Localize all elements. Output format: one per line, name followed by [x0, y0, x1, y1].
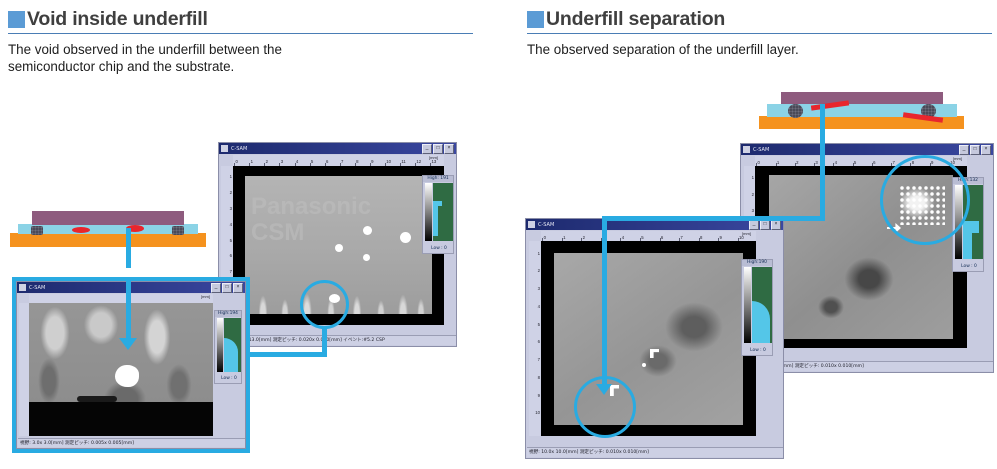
ruler-tick: 1 [538, 251, 540, 256]
ruler-tick: 5 [311, 159, 313, 164]
window-titlebar[interactable]: C-SAM _ □ × [741, 144, 993, 155]
close-button[interactable]: × [771, 220, 781, 230]
left-heading-title: Void inside underfill [27, 9, 208, 30]
ruler-tick: 9 [538, 393, 540, 398]
leader-line-down [820, 143, 825, 221]
status-bar: 視野: 3.0x 3.0[mm] 測定ピッチ: 0.005x 0.005[mm] [18, 438, 245, 447]
window-title: C-SAM [538, 222, 749, 228]
histogram-plot [752, 267, 772, 343]
histogram-panel[interactable]: High:190 Low : 0 [741, 259, 773, 356]
zoom-arrow-head [119, 338, 137, 350]
ruler-tick: 3 [752, 208, 754, 213]
histogram-panel[interactable]: High: 191 Low : 0 [422, 175, 454, 254]
ruler-tick: 3 [815, 160, 817, 165]
maximize-button[interactable]: □ [433, 144, 443, 154]
app-icon [743, 146, 750, 153]
schematic-leader-line [126, 228, 131, 268]
close-button[interactable]: × [233, 283, 243, 293]
status-bar: 視野: 10.0x 10.0[mm] 測定ピッチ: 0.010x 0.010[m… [527, 447, 783, 457]
ruler-tick: 1 [752, 175, 754, 180]
window-controls[interactable]: _ □ × [211, 283, 243, 293]
solder-bump [31, 226, 43, 235]
histogram-high-label: High: 191 [423, 176, 453, 182]
csam-zoom-window[interactable]: C-SAM _ □ × [mm] High:194 Low : 0 視野: [16, 281, 246, 449]
close-button[interactable]: × [981, 145, 991, 155]
ruler-tick: 0 [758, 160, 760, 165]
ruler-tick: 1 [251, 159, 253, 164]
chip-layer [781, 92, 943, 104]
ruler-tick: 2 [538, 268, 540, 273]
right-cross-section-diagram [747, 88, 974, 138]
histogram-low-label: Low : 0 [743, 348, 773, 354]
csam-front-window[interactable]: C-SAM _ □ × [mm] 012345678910 1234567891… [525, 218, 784, 459]
ruler-tick: 6 [538, 339, 540, 344]
left-panel: Void inside underfill The void observed … [0, 0, 499, 469]
app-icon [528, 221, 535, 228]
left-heading-row: Void inside underfill [8, 9, 473, 30]
grayscale-colorbar [425, 183, 432, 241]
ruler-tick: 0 [544, 235, 546, 240]
blue-square-icon [527, 11, 544, 28]
ruler-tick: 4 [538, 304, 540, 309]
ruler-tick: 3 [230, 206, 232, 211]
right-heading-rule [527, 33, 992, 34]
window-title: C-SAM [29, 285, 211, 291]
ruler-tick: 7 [892, 160, 894, 165]
left-description: The void observed in the underfill betwe… [8, 42, 473, 75]
histogram-high-label: High:194 [215, 311, 241, 317]
ruler-tick: 2 [266, 159, 268, 164]
spot-arrow-head [596, 384, 612, 395]
window-titlebar[interactable]: C-SAM _ □ × [219, 143, 456, 154]
window-controls[interactable]: _ □ × [959, 145, 991, 155]
separation-area-circle [880, 155, 970, 245]
ruler-tick: 1 [563, 235, 565, 240]
histogram-high-label: High:190 [742, 260, 772, 266]
ruler-tick: 2 [230, 190, 232, 195]
scan-image-area[interactable] [29, 303, 213, 436]
void-spot [400, 232, 411, 243]
histogram-low-label: Low : 0 [954, 264, 984, 270]
ruler-tick: 6 [230, 253, 232, 258]
maximize-button[interactable]: □ [970, 145, 980, 155]
maximize-button[interactable]: □ [760, 220, 770, 230]
left-heading-block: Void inside underfill The void observed … [8, 9, 473, 75]
leader-line-horizontal [246, 352, 327, 357]
histogram-plot [433, 183, 453, 241]
ruler-tick: 10 [739, 235, 744, 240]
blue-square-icon [8, 11, 25, 28]
right-heading-title: Underfill separation [546, 9, 725, 30]
grayscale-colorbar [744, 267, 751, 343]
histogram-plot [224, 318, 241, 372]
ruler-tick: 6 [326, 159, 328, 164]
zoom-arrow-shaft [126, 278, 131, 340]
ruler-tick: 8 [700, 235, 702, 240]
ruler-tick: 7 [341, 159, 343, 164]
ruler-tick: 4 [296, 159, 298, 164]
ruler-tick: 10 [386, 159, 391, 164]
ruler-tick: 9 [719, 235, 721, 240]
ruler-tick: 8 [538, 375, 540, 380]
ruler-tick: 8 [356, 159, 358, 164]
right-heading-block: Underfill separation The observed separa… [527, 9, 992, 59]
ruler-tick: 5 [854, 160, 856, 165]
close-button[interactable]: × [444, 144, 454, 154]
leader-line-to-spot [602, 216, 607, 386]
void-highlight-circle [300, 280, 349, 329]
grayscale-colorbar [217, 318, 223, 372]
status-bar: 視野: 13.0x 13.0[mm] 測定ピッチ: 0.020x 0.020[m… [220, 335, 456, 345]
histogram-low-label: Low : 0 [216, 376, 242, 382]
minimize-button[interactable]: _ [211, 283, 221, 293]
substrate-layer [10, 233, 206, 247]
ruler-tick: 4 [622, 235, 624, 240]
window-title: C-SAM [753, 147, 959, 153]
ruler-tick: 2 [583, 235, 585, 240]
ruler-tick: 5 [641, 235, 643, 240]
ruler-tick: 9 [371, 159, 373, 164]
void-spot [363, 226, 372, 235]
ruler-tick: 5 [230, 238, 232, 243]
minimize-button[interactable]: _ [422, 144, 432, 154]
app-icon [19, 284, 26, 291]
void-marker [72, 227, 90, 233]
window-controls[interactable]: _ □ × [422, 144, 454, 154]
ruler-tick: 12 [416, 159, 421, 164]
ruler-tick: 1 [777, 160, 779, 165]
ruler-tick: 2 [752, 192, 754, 197]
right-panel: Underfill separation The observed separa… [499, 0, 997, 469]
ruler-tick: 4 [835, 160, 837, 165]
solder-bump [788, 104, 803, 118]
ruler-tick: 7 [538, 357, 540, 362]
ruler-tick: 4 [230, 222, 232, 227]
right-description: The observed separation of the underfill… [527, 42, 992, 59]
schematic-leader-vertical [820, 104, 825, 143]
ruler-tick: 1 [230, 174, 232, 179]
void-blob-magnified [115, 365, 139, 387]
ruler-tick: 7 [230, 269, 232, 274]
void-spot [363, 254, 370, 261]
underfill-layer [18, 224, 198, 234]
app-icon [221, 145, 228, 152]
ruler-tick: 6 [873, 160, 875, 165]
minimize-button[interactable]: _ [749, 220, 759, 230]
ruler-unit-label: [mm] [201, 294, 210, 299]
histogram-low-label: Low : 0 [424, 246, 454, 252]
minimize-button[interactable]: _ [959, 145, 969, 155]
left-heading-rule [8, 33, 473, 34]
ruler-tick: 7 [680, 235, 682, 240]
ruler-tick: 13 [431, 159, 436, 164]
maximize-button[interactable]: □ [222, 283, 232, 293]
ruler-tick: 5 [538, 322, 540, 327]
ruler-tick: 6 [661, 235, 663, 240]
ruler-tick: 3 [281, 159, 283, 164]
window-controls[interactable]: _ □ × [749, 220, 781, 230]
ruler-tick: 3 [538, 286, 540, 291]
ruler-tick: 10 [535, 410, 540, 415]
histogram-panel[interactable]: High:194 Low : 0 [214, 310, 242, 384]
ruler-tick: 11 [401, 159, 405, 164]
window-title: C-SAM [231, 146, 422, 152]
left-cross-section-diagram [10, 206, 206, 254]
right-heading-row: Underfill separation [527, 9, 992, 30]
ruler-tick: 2 [796, 160, 798, 165]
leader-line-left [602, 216, 825, 221]
chip-layer [32, 211, 184, 225]
ruler-tick: 0 [236, 159, 238, 164]
void-spot [335, 244, 343, 252]
window-titlebar[interactable]: C-SAM _ □ × [17, 282, 245, 293]
solder-bump [172, 226, 184, 235]
